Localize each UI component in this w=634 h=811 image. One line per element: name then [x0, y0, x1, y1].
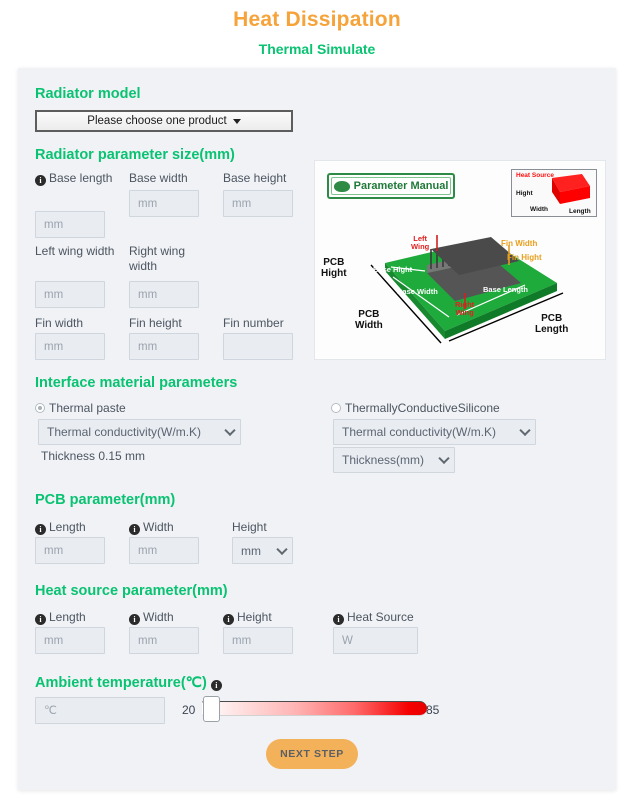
- section-title-radiator-model: Radiator model: [35, 86, 141, 102]
- label-base-height: Base height: [223, 171, 308, 186]
- diagram-label-pcb-hight: PCBHight: [321, 257, 347, 279]
- info-icon[interactable]: i: [35, 175, 46, 186]
- text-paste-thickness: Thickness 0.15 mm: [41, 449, 145, 463]
- product-dropdown-value: Please choose one product: [87, 115, 226, 127]
- info-icon[interactable]: i: [35, 524, 46, 535]
- select-silicone-thickness[interactable]: Thickness(mm): [333, 447, 455, 473]
- label-base-width: Base width: [129, 171, 214, 186]
- select-pcb-height[interactable]: mm: [232, 537, 293, 564]
- diagram-label-base-width: Base Width: [397, 287, 438, 296]
- input-left-wing-width[interactable]: [35, 281, 105, 308]
- heat-source-inset: Heat Source Hight Width Length: [511, 169, 597, 217]
- info-icon[interactable]: i: [129, 614, 140, 625]
- page-subtitle: Thermal Simulate: [0, 41, 634, 57]
- input-base-width[interactable]: [129, 190, 199, 217]
- slider-track[interactable]: [202, 701, 427, 716]
- label-left-wing-width: Left wing width: [35, 244, 115, 259]
- input-hs-power[interactable]: [333, 627, 418, 654]
- select-silicone-conductivity[interactable]: Thermal conductivity(W/m.K): [333, 419, 536, 445]
- slider-min-label: 20: [182, 703, 195, 717]
- radio-thermally-conductive-silicone[interactable]: ThermallyConductiveSilicone: [331, 401, 500, 416]
- input-ambient-temperature[interactable]: [35, 697, 165, 724]
- input-hs-width[interactable]: [129, 627, 199, 654]
- select-wrap-silicone-thickness[interactable]: Thickness(mm): [333, 447, 455, 473]
- section-title-interface-material: Interface material parameters: [35, 375, 237, 391]
- info-icon[interactable]: i: [129, 524, 140, 535]
- select-paste-conductivity[interactable]: Thermal conductivity(W/m.K): [38, 419, 241, 445]
- diagram-label-fin-width: Fin Width: [501, 239, 537, 248]
- select-wrap-paste-conductivity[interactable]: Thermal conductivity(W/m.K): [38, 419, 241, 445]
- diagram-label-right-wing: RightWing: [455, 301, 474, 317]
- product-dropdown[interactable]: Please choose one product: [35, 110, 293, 132]
- label-hs-width: iWidth: [129, 610, 174, 625]
- info-icon[interactable]: i: [333, 614, 344, 625]
- input-pcb-width[interactable]: [129, 537, 199, 564]
- label-pcb-height: Height: [232, 520, 267, 535]
- select-wrap-pcb-height[interactable]: mm: [232, 537, 293, 564]
- heat-source-label-width: Width: [530, 206, 548, 213]
- section-title-pcb: PCB parameter(mm): [35, 492, 175, 508]
- info-icon[interactable]: i: [211, 680, 222, 691]
- label-hs-power: iHeat Source: [333, 610, 414, 625]
- parameter-diagram: Parameter Manual Heat Source Hight Width…: [314, 160, 606, 360]
- diagram-label-pcb-length: PCBLength: [535, 313, 568, 335]
- heat-source-label-hight: Hight: [516, 190, 533, 197]
- section-title-ambient: Ambient temperature(℃) i: [35, 675, 225, 691]
- info-icon[interactable]: i: [35, 614, 46, 625]
- label-pcb-length: iLength: [35, 520, 86, 535]
- input-base-height[interactable]: [223, 190, 293, 217]
- next-step-button[interactable]: NEXT STEP: [266, 739, 358, 769]
- diagram-label-base-length: Base Length: [483, 285, 528, 294]
- label-fin-width: Fin width: [35, 316, 120, 331]
- input-fin-height[interactable]: [129, 333, 199, 360]
- label-pcb-width: iWidth: [129, 520, 174, 535]
- heat-source-label-length: Length: [569, 208, 591, 215]
- section-title-heat-source: Heat source parameter(mm): [35, 583, 228, 599]
- radio-icon-silicone[interactable]: [331, 403, 341, 413]
- chevron-down-icon: [233, 119, 241, 124]
- label-fin-height: Fin height: [129, 316, 214, 331]
- select-wrap-silicone-conductivity[interactable]: Thermal conductivity(W/m.K): [333, 419, 536, 445]
- input-base-length[interactable]: [35, 211, 105, 238]
- diagram-label-pcb-width: PCBWidth: [355, 309, 383, 331]
- label-base-length: iBase length: [35, 171, 115, 186]
- input-pcb-length[interactable]: [35, 537, 105, 564]
- page-title: Heat Dissipation: [0, 8, 634, 32]
- radio-icon-thermal-paste[interactable]: [35, 403, 45, 413]
- diagram-label-left-wing: LeftWing: [411, 235, 429, 251]
- radio-thermal-paste[interactable]: Thermal paste: [35, 401, 126, 416]
- slider-max-label: 85: [426, 703, 439, 717]
- input-hs-length[interactable]: [35, 627, 105, 654]
- diagram-label-fin-hight: Fin Hight: [507, 253, 542, 262]
- info-icon[interactable]: i: [223, 614, 234, 625]
- label-hs-height: iHeight: [223, 610, 272, 625]
- section-title-radiator-size: Radiator parameter size(mm): [35, 147, 235, 163]
- label-right-wing-width: Right wing width: [129, 244, 209, 274]
- parameter-manual-badge[interactable]: Parameter Manual: [327, 173, 455, 199]
- label-hs-length: iLength: [35, 610, 86, 625]
- parameter-manual-label: Parameter Manual: [354, 180, 449, 192]
- input-fin-number[interactable]: [223, 333, 293, 360]
- slider-handle[interactable]: [203, 696, 220, 722]
- ambient-temperature-slider[interactable]: 20 85: [182, 698, 442, 726]
- input-fin-width[interactable]: [35, 333, 105, 360]
- leaf-icon: [334, 181, 350, 192]
- heat-source-inset-title: Heat Source: [516, 172, 554, 179]
- diagram-label-base-hight: Base Hight: [373, 265, 412, 274]
- label-fin-number: Fin number: [223, 316, 308, 331]
- input-hs-height[interactable]: [223, 627, 293, 654]
- input-right-wing-width[interactable]: [129, 281, 199, 308]
